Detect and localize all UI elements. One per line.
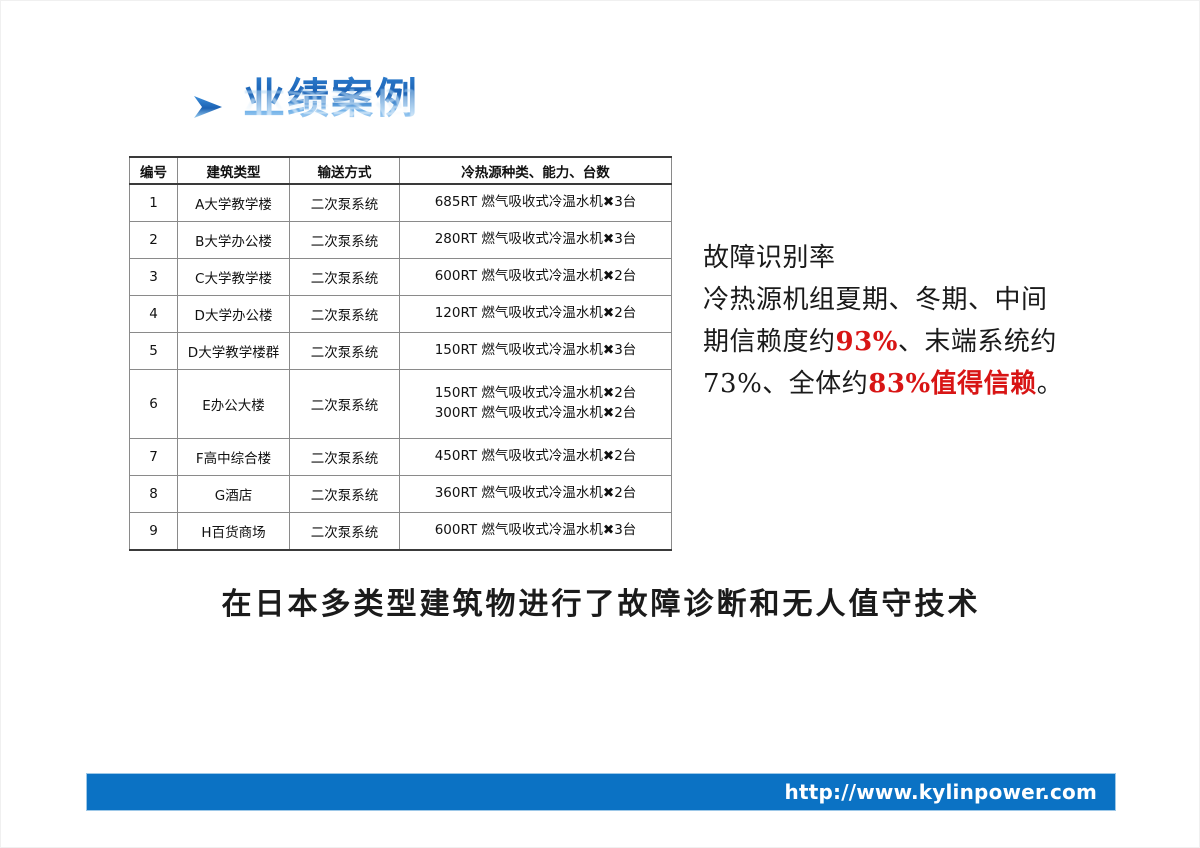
- cell-building-type: B大学办公楼: [178, 222, 290, 259]
- rate-line-4: 73%、全体约83%值得信赖。: [703, 363, 1103, 405]
- rate-line-4-pre: 73%、全体约: [703, 369, 868, 399]
- heat-source-line: 150RT 燃气吸收式冷温水机✖2台: [402, 384, 669, 404]
- slide-caption: 在日本多类型建筑物进行了故障诊断和无人值守技术: [1, 579, 1200, 623]
- heat-source-line: 450RT 燃气吸收式冷温水机✖2台: [402, 447, 669, 467]
- cell-no: 1: [130, 184, 178, 222]
- slide-canvas: 业绩案例 业绩案例 编号 建筑类型 输送方式 冷热源种类、能力、台数 1A大学教…: [0, 0, 1200, 848]
- column-header-transport: 输送方式: [290, 157, 400, 184]
- table-body: 1A大学教学楼二次泵系统685RT 燃气吸收式冷温水机✖3台2B大学办公楼二次泵…: [130, 184, 672, 550]
- arrow-right-bullet-icon: [189, 87, 229, 127]
- cell-building-type: E办公大楼: [178, 370, 290, 439]
- cell-no: 5: [130, 333, 178, 370]
- cell-heat-source: 150RT 燃气吸收式冷温水机✖3台: [400, 333, 672, 370]
- cell-transport: 二次泵系统: [290, 513, 400, 551]
- heat-source-line: 150RT 燃气吸收式冷温水机✖3台: [402, 341, 669, 361]
- cell-transport: 二次泵系统: [290, 476, 400, 513]
- rate-highlight-93: 93%: [836, 327, 898, 357]
- page-title-text: 业绩案例: [243, 73, 419, 125]
- heat-source-line: 360RT 燃气吸收式冷温水机✖2台: [402, 484, 669, 504]
- rate-line-3: 期信赖度约93%、末端系统约: [703, 321, 1103, 363]
- cell-no: 8: [130, 476, 178, 513]
- heat-source-line: 280RT 燃气吸收式冷温水机✖3台: [402, 230, 669, 250]
- cell-building-type: C大学教学楼: [178, 259, 290, 296]
- table-row: 2B大学办公楼二次泵系统280RT 燃气吸收式冷温水机✖3台: [130, 222, 672, 259]
- cell-transport: 二次泵系统: [290, 333, 400, 370]
- cell-heat-source: 685RT 燃气吸收式冷温水机✖3台: [400, 184, 672, 222]
- cell-heat-source: 450RT 燃气吸收式冷温水机✖2台: [400, 439, 672, 476]
- cell-building-type: F高中综合楼: [178, 439, 290, 476]
- column-header-no: 编号: [130, 157, 178, 184]
- cell-heat-source: 600RT 燃气吸收式冷温水机✖3台: [400, 513, 672, 551]
- cell-building-type: A大学教学楼: [178, 184, 290, 222]
- cell-heat-source: 280RT 燃气吸收式冷温水机✖3台: [400, 222, 672, 259]
- rate-line-4-post: 。: [1037, 369, 1064, 399]
- cell-no: 6: [130, 370, 178, 439]
- cell-transport: 二次泵系统: [290, 184, 400, 222]
- table-row: 5D大学教学楼群二次泵系统150RT 燃气吸收式冷温水机✖3台: [130, 333, 672, 370]
- cell-transport: 二次泵系统: [290, 370, 400, 439]
- rate-highlight-83: 83%值得信赖: [868, 369, 1036, 399]
- cell-heat-source: 360RT 燃气吸收式冷温水机✖2台: [400, 476, 672, 513]
- table-row: 7F高中综合楼二次泵系统450RT 燃气吸收式冷温水机✖2台: [130, 439, 672, 476]
- cell-transport: 二次泵系统: [290, 222, 400, 259]
- heat-source-line: 600RT 燃气吸收式冷温水机✖2台: [402, 267, 669, 287]
- rate-line-3-post: 、末端系统约: [898, 327, 1057, 357]
- cell-no: 2: [130, 222, 178, 259]
- cell-no: 9: [130, 513, 178, 551]
- cell-no: 4: [130, 296, 178, 333]
- cell-building-type: H百货商场: [178, 513, 290, 551]
- cell-no: 3: [130, 259, 178, 296]
- cell-transport: 二次泵系统: [290, 296, 400, 333]
- table-row: 1A大学教学楼二次泵系统685RT 燃气吸收式冷温水机✖3台: [130, 184, 672, 222]
- cell-transport: 二次泵系统: [290, 439, 400, 476]
- table-header-row: 编号 建筑类型 输送方式 冷热源种类、能力、台数: [130, 157, 672, 184]
- rate-heading: 故障识别率: [703, 237, 1103, 279]
- performance-cases-table: 编号 建筑类型 输送方式 冷热源种类、能力、台数 1A大学教学楼二次泵系统685…: [129, 156, 672, 551]
- cell-building-type: G酒店: [178, 476, 290, 513]
- cell-heat-source: 120RT 燃气吸收式冷温水机✖2台: [400, 296, 672, 333]
- heat-source-line: 120RT 燃气吸收式冷温水机✖2台: [402, 304, 669, 324]
- cell-transport: 二次泵系统: [290, 259, 400, 296]
- footer-bar: http://www.kylinpower.com: [86, 773, 1116, 811]
- column-header-building-type: 建筑类型: [178, 157, 290, 184]
- table-header: 编号 建筑类型 输送方式 冷热源种类、能力、台数: [130, 157, 672, 184]
- table-row: 4D大学办公楼二次泵系统120RT 燃气吸收式冷温水机✖2台: [130, 296, 672, 333]
- heat-source-line: 685RT 燃气吸收式冷温水机✖3台: [402, 193, 669, 213]
- table-row: 8G酒店二次泵系统360RT 燃气吸收式冷温水机✖2台: [130, 476, 672, 513]
- cell-building-type: D大学教学楼群: [178, 333, 290, 370]
- cell-heat-source: 600RT 燃气吸收式冷温水机✖2台: [400, 259, 672, 296]
- column-header-source: 冷热源种类、能力、台数: [400, 157, 672, 184]
- cell-no: 7: [130, 439, 178, 476]
- cell-building-type: D大学办公楼: [178, 296, 290, 333]
- rate-line-3-pre: 期信赖度约: [703, 327, 836, 357]
- table-row: 6E办公大楼二次泵系统150RT 燃气吸收式冷温水机✖2台300RT 燃气吸收式…: [130, 370, 672, 439]
- footer-url-text[interactable]: http://www.kylinpower.com: [785, 780, 1115, 804]
- fault-identification-rate-block: 故障识别率 冷热源机组夏期、冬期、中间 期信赖度约93%、末端系统约 73%、全…: [703, 237, 1103, 405]
- heat-source-line: 300RT 燃气吸收式冷温水机✖2台: [402, 404, 669, 424]
- table-row: 9H百货商场二次泵系统600RT 燃气吸收式冷温水机✖3台: [130, 513, 672, 551]
- table-row: 3C大学教学楼二次泵系统600RT 燃气吸收式冷温水机✖2台: [130, 259, 672, 296]
- heat-source-line: 600RT 燃气吸收式冷温水机✖3台: [402, 521, 669, 541]
- rate-line-2: 冷热源机组夏期、冬期、中间: [703, 279, 1103, 321]
- cell-heat-source: 150RT 燃气吸收式冷温水机✖2台300RT 燃气吸收式冷温水机✖2台: [400, 370, 672, 439]
